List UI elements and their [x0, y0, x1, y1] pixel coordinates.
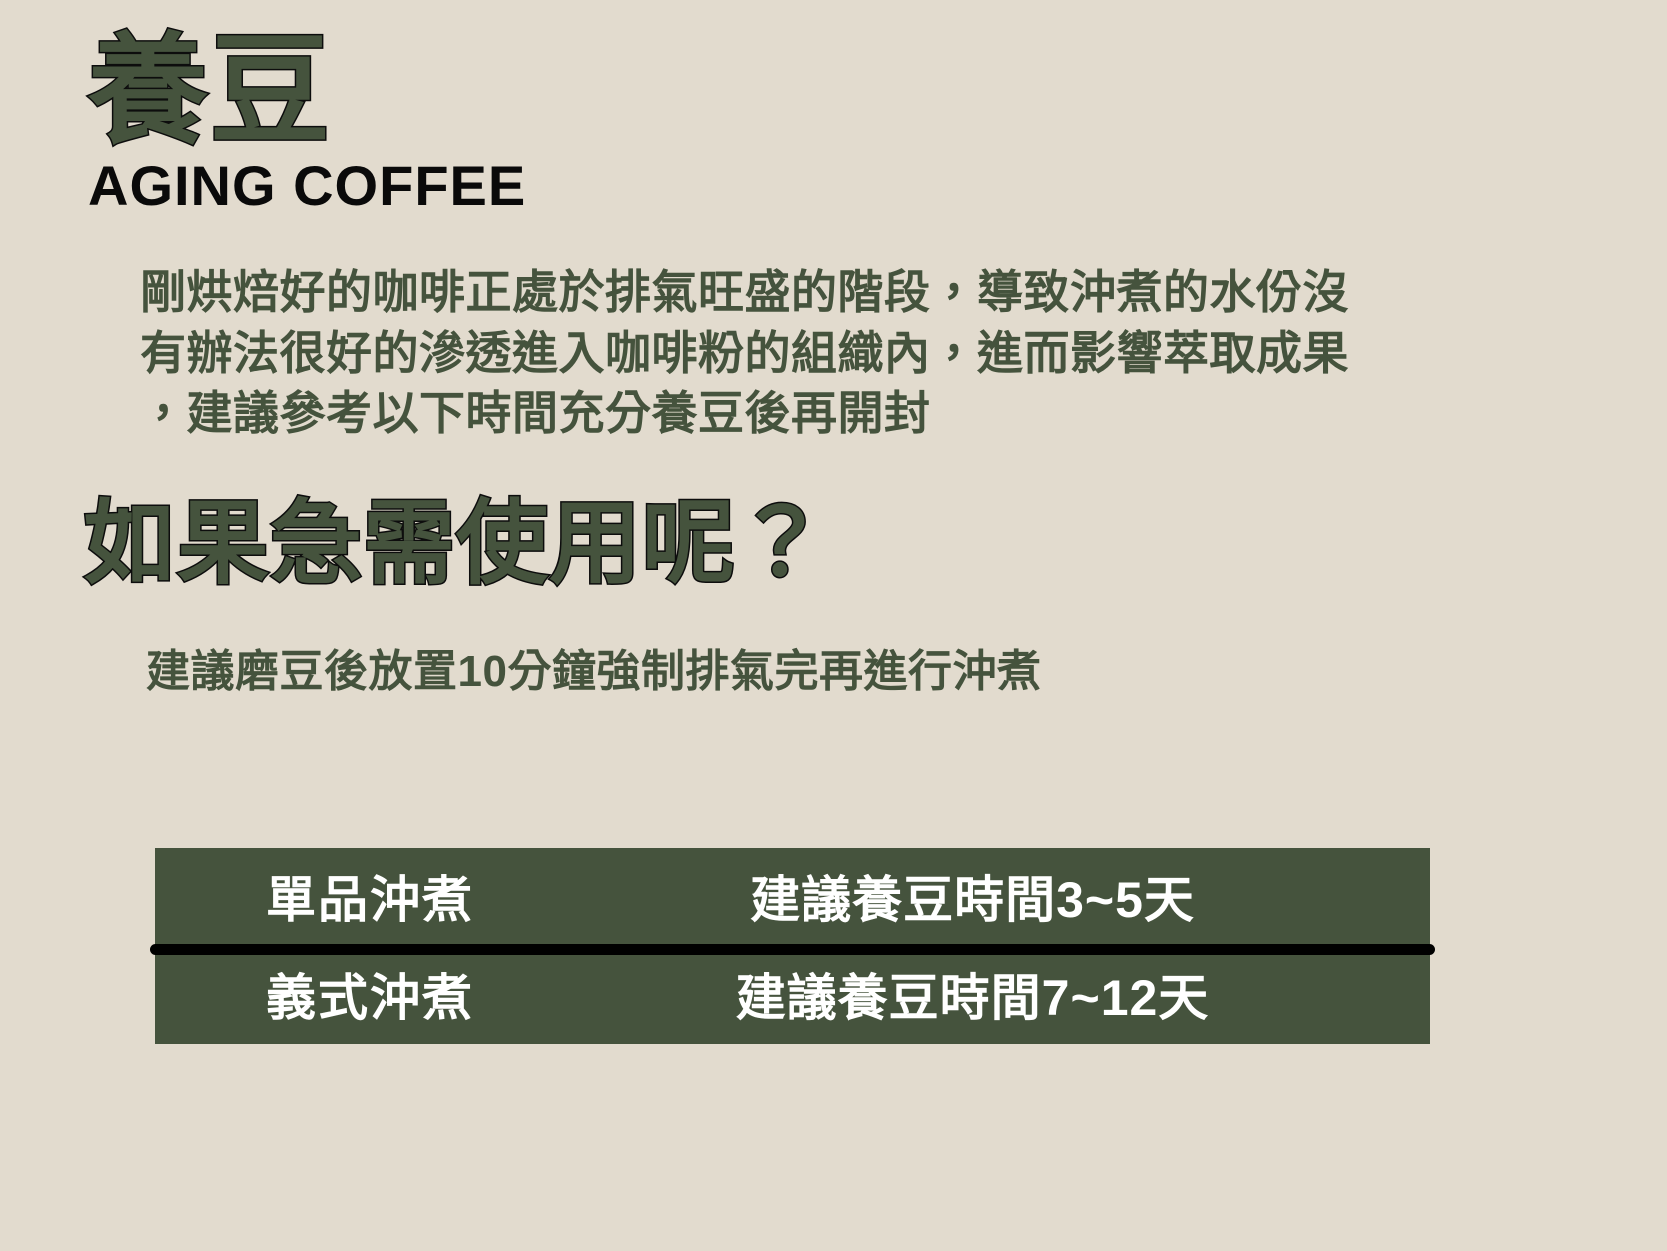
table-cell-aging-time: 建議養豆時間3~5天	[585, 860, 1430, 932]
intro-line-1: 剛烘焙好的咖啡正處於排氣旺盛的階段，導致沖煮的水份沒	[140, 262, 1460, 323]
table-row: 義式沖煮 建議養豆時間7~12天	[155, 944, 1430, 1044]
section-note: 建議磨豆後放置10分鐘強制排氣完再進行沖煮	[146, 646, 1041, 699]
table-cell-aging-time: 建議養豆時間7~12天	[585, 958, 1430, 1030]
table-cell-brew-method: 義式沖煮	[155, 958, 585, 1030]
page-title-english: AGING COFFEE	[88, 158, 526, 214]
table-row: 單品沖煮 建議養豆時間3~5天	[155, 848, 1430, 944]
section-heading-question: 如果急需使用呢？	[84, 496, 828, 593]
page-title-chinese: 養豆	[88, 28, 332, 154]
aging-time-table: 單品沖煮 建議養豆時間3~5天 義式沖煮 建議養豆時間7~12天	[155, 848, 1430, 1044]
intro-paragraph: 剛烘焙好的咖啡正處於排氣旺盛的階段，導致沖煮的水份沒 有辦法很好的滲透進入咖啡粉…	[140, 262, 1460, 444]
table-row-divider	[150, 944, 1435, 955]
poster-canvas: 養豆 AGING COFFEE 剛烘焙好的咖啡正處於排氣旺盛的階段，導致沖煮的水…	[0, 0, 1667, 1251]
table-cell-brew-method: 單品沖煮	[155, 860, 585, 932]
intro-line-2: 有辦法很好的滲透進入咖啡粉的組織內，進而影響萃取成果	[140, 323, 1460, 384]
intro-line-3: ，建議參考以下時間充分養豆後再開封	[140, 383, 1460, 444]
